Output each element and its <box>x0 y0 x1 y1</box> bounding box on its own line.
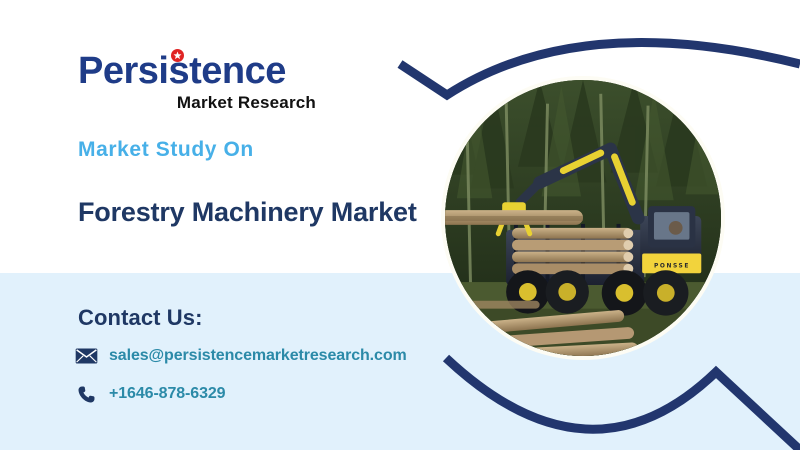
contact-email-row[interactable]: sales@persistencemarketresearch.com <box>74 345 407 367</box>
marketing-banner: Persistence Market Research Market Study… <box>0 0 800 450</box>
star-icon <box>171 49 184 62</box>
eyebrow-text: Market Study On <box>78 138 254 162</box>
envelope-icon <box>74 345 98 367</box>
phone-icon <box>74 383 98 405</box>
brand-tagline: Market Research <box>78 94 318 111</box>
contact-phone-row[interactable]: +1646-878-6329 <box>74 383 225 405</box>
brand-name: Persistence <box>78 52 318 90</box>
hero-photo: PONSSE <box>441 76 725 360</box>
page-title: Forestry Machinery Market <box>78 195 438 230</box>
contact-heading: Contact Us: <box>78 305 203 331</box>
contact-email-value: sales@persistencemarketresearch.com <box>109 347 407 365</box>
forestry-scene-illustration: PONSSE <box>445 80 721 356</box>
contact-phone-value: +1646-878-6329 <box>109 385 225 403</box>
hero-photo-inner: PONSSE <box>445 80 721 356</box>
svg-text:PONSSE: PONSSE <box>654 263 690 269</box>
brand-logo: Persistence Market Research <box>78 52 318 111</box>
